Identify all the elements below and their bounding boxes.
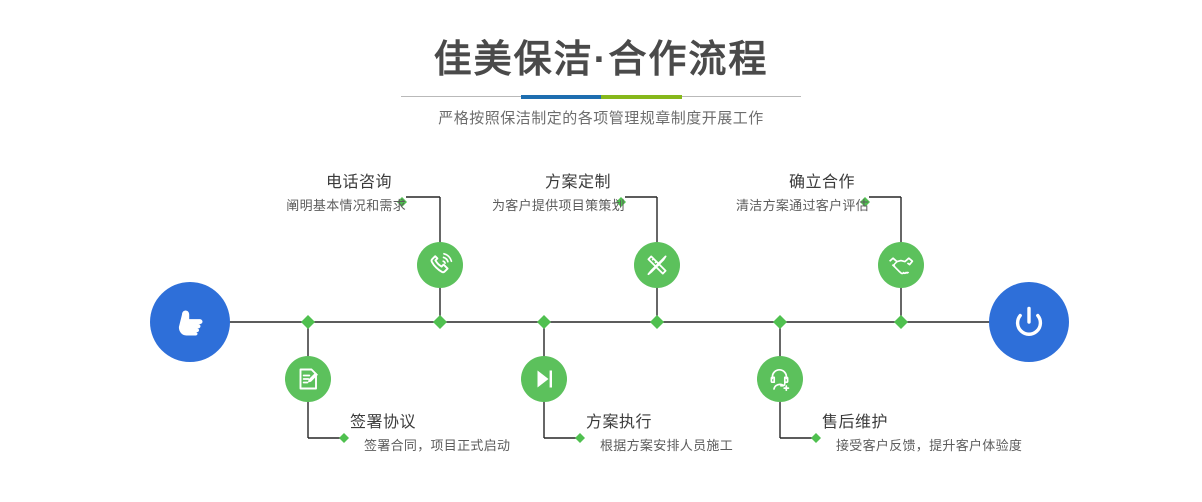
diamond-marker-1 <box>301 315 315 329</box>
step-desc-5: 清洁方案通过客户评估 <box>560 196 869 216</box>
power-icon <box>1007 300 1051 344</box>
diamond-marker-6 <box>894 315 908 329</box>
step-node-6[interactable] <box>757 356 803 402</box>
label-diamond-2 <box>339 433 349 443</box>
page-subtitle: 严格按照保洁制定的各项管理规章制度开展工作 <box>0 108 1202 130</box>
diamond-marker-3 <box>537 315 551 329</box>
document-sign-icon <box>294 365 322 393</box>
step-desc-6: 接受客户反馈，提升客户体验度 <box>822 436 1162 456</box>
process-flow-diagram: 电话咨询 阐明基本情况和需求 签署协议 签署合同，项目正式启动 方案定制 为客户… <box>0 150 1202 502</box>
step-node-4[interactable] <box>521 356 567 402</box>
page-header: 佳美保洁·合作流程 严格按照保洁制定的各项管理规章制度开展工作 <box>0 0 1202 150</box>
divider-segment-green <box>601 95 682 99</box>
step-label-5: 确立合作 清洁方案通过客户评估 <box>560 172 869 216</box>
step-title-6: 售后维护 <box>822 412 1162 434</box>
headset-support-icon <box>766 365 794 393</box>
step-title-5: 确立合作 <box>560 172 869 194</box>
diamond-marker-2 <box>433 315 447 329</box>
diamond-marker-5 <box>773 315 787 329</box>
phone-call-icon <box>426 251 454 279</box>
diamond-marker-4 <box>650 315 664 329</box>
flow-end-node[interactable] <box>989 282 1069 362</box>
step-label-6: 售后维护 接受客户反馈，提升客户体验度 <box>822 412 1162 456</box>
pencil-ruler-icon <box>643 251 671 279</box>
divider-segment-blue <box>521 95 601 99</box>
step-node-5[interactable] <box>878 242 924 288</box>
label-diamond-markers <box>339 197 870 443</box>
play-execute-icon <box>530 365 558 393</box>
step-node-3[interactable] <box>634 242 680 288</box>
title-divider <box>401 95 801 99</box>
step-node-2[interactable] <box>285 356 331 402</box>
pointing-hand-icon <box>168 300 212 344</box>
flow-start-node[interactable] <box>150 282 230 362</box>
step-node-1[interactable] <box>417 242 463 288</box>
handshake-icon <box>887 251 915 279</box>
page-title: 佳美保洁·合作流程 <box>0 36 1202 84</box>
